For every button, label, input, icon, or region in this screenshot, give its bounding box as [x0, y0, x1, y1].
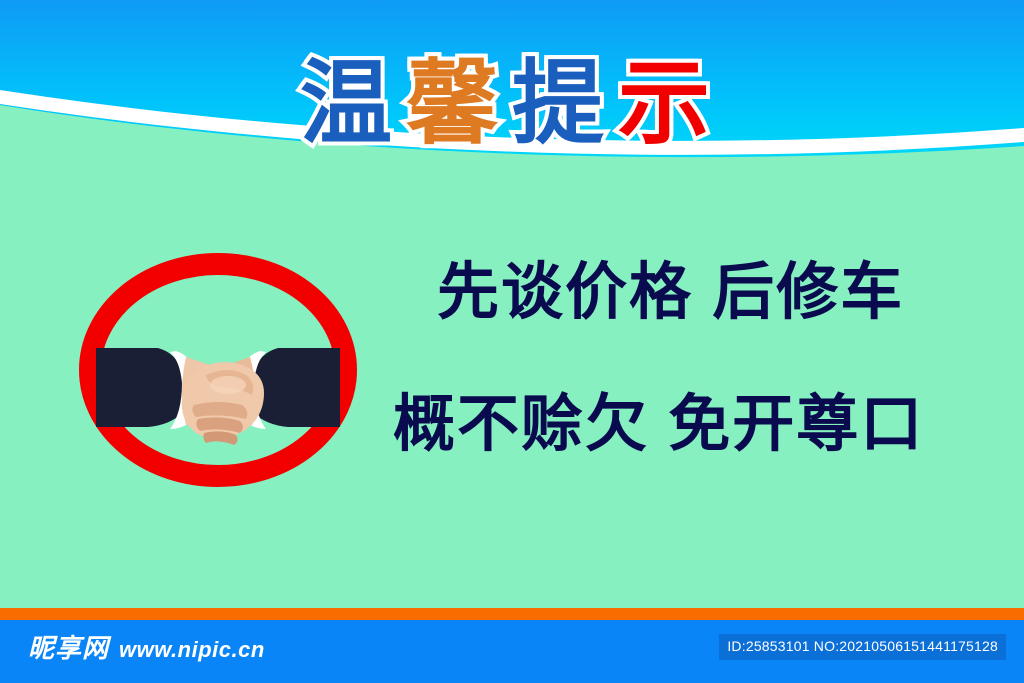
handshake-sign	[78, 253, 358, 487]
title-char-2: 馨	[406, 58, 512, 150]
title-char-1: 温	[300, 58, 406, 150]
handshake-prohibited-icon	[78, 253, 358, 487]
orange-divider-stripe	[0, 608, 1024, 620]
title-char-3: 提	[512, 58, 618, 150]
message-line-2: 概不赊欠 免开尊口	[393, 394, 990, 456]
message-block: 先谈价格 后修车 概不赊欠 免开尊口	[385, 262, 990, 456]
right-sleeve	[254, 348, 340, 427]
watermark: 昵享网 www.nipic.cn	[28, 635, 265, 661]
title-char-4: 示	[618, 58, 724, 150]
id-badge: ID:25853101 NO:20210506151441175128	[719, 634, 1006, 660]
watermark-logo: 昵享网	[28, 635, 109, 661]
poster-title: 温馨提示	[0, 58, 1024, 150]
poster-canvas: 温馨提示	[0, 0, 1024, 683]
footer-bar: 昵享网 www.nipic.cn ID:25853101 NO:20210506…	[0, 620, 1024, 683]
knuckle-highlight	[210, 376, 246, 394]
watermark-url: www.nipic.cn	[119, 639, 265, 661]
left-sleeve	[96, 348, 182, 427]
message-line-1: 先谈价格 后修车	[437, 262, 990, 324]
